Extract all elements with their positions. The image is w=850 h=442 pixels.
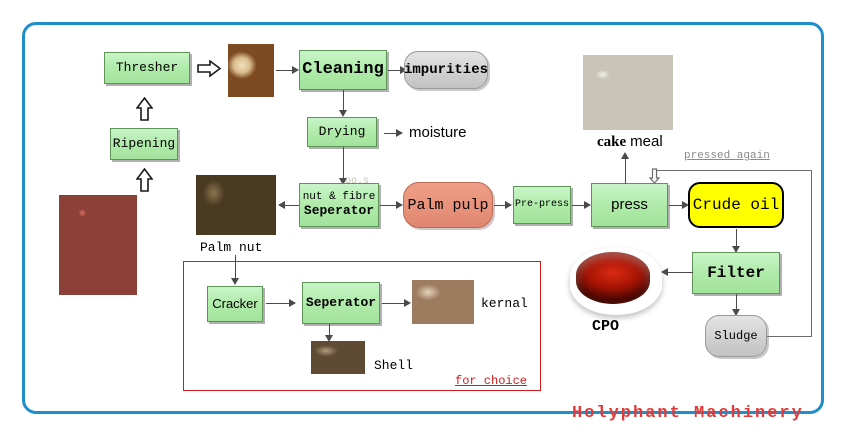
- connector-drying-to-separator: [343, 147, 344, 181]
- node-press[interactable]: press: [591, 183, 668, 227]
- node-pre-press[interactable]: Pre-press: [513, 186, 571, 224]
- node-cleaning-label: Cleaning: [302, 61, 384, 79]
- label-cpo: CPO: [592, 318, 619, 335]
- label-shell: Shell: [374, 358, 413, 373]
- photo-shell: [311, 341, 365, 374]
- node-crude-oil-label: Crude oil: [693, 196, 779, 214]
- connector-press-to-cake: [625, 158, 626, 184]
- node-palm-pulp[interactable]: Palm pulp: [403, 182, 493, 228]
- connector-recycle-right: [811, 170, 812, 336]
- arrowhead-drying-to-moisture: [396, 129, 403, 137]
- label-palm-nut: Palm nut: [200, 240, 262, 255]
- connector-sludge-to-recycle: [765, 336, 812, 337]
- connector-separator-to-palmnut: [284, 205, 300, 206]
- hollow-up-arrow-icon-ripening-to-thresher: [136, 97, 153, 121]
- label-moisture: moisture: [409, 124, 467, 141]
- node-kernel-separator[interactable]: Seperator: [302, 282, 380, 324]
- hollow-right-arrow-icon: [197, 60, 221, 77]
- arrowhead-palmnut-to-cracker: [231, 278, 239, 285]
- arrowhead-cleaning-to-drying: [339, 110, 347, 117]
- arrowhead-prepress-to-press: [584, 201, 591, 209]
- node-filter-label: Filter: [707, 265, 765, 282]
- arrowhead-cracker-to-kernelseparator: [289, 299, 296, 307]
- label-cake-bold: cake: [597, 134, 626, 150]
- node-drying-label: Drying: [319, 125, 366, 139]
- node-cracker[interactable]: Cracker: [207, 286, 263, 322]
- label-cake-meal: cakemeal: [597, 133, 663, 151]
- node-press-label: press: [611, 197, 648, 213]
- photo-cpo-oil: [576, 252, 650, 304]
- node-thresher[interactable]: Thresher: [104, 52, 190, 84]
- arrowhead-pulp-to-prepress: [505, 201, 512, 209]
- node-cracker-label: Cracker: [212, 297, 258, 311]
- node-nut-fibre-separator[interactable]: nut & fibre Seperator: [299, 183, 379, 227]
- connector-cleaning-to-drying: [343, 90, 344, 112]
- photo-palm-fruit-cut: [228, 44, 274, 97]
- photo-cake-meal: [583, 55, 673, 130]
- connector-filter-to-cpo: [667, 272, 693, 273]
- photo-fruit-bunch: [59, 195, 137, 295]
- photo-palm-nut: [196, 175, 276, 235]
- node-cleaning[interactable]: Cleaning: [299, 50, 387, 90]
- arrowhead-separator-to-palmnut: [278, 201, 285, 209]
- node-ripening-label: Ripening: [113, 137, 175, 151]
- connector-recycle-top: [654, 170, 812, 171]
- node-separator-line2: Seperator: [304, 204, 374, 218]
- arrowhead-press-to-cake: [621, 152, 629, 159]
- node-filter[interactable]: Filter: [692, 252, 780, 294]
- node-pre-press-label: Pre-press: [515, 200, 569, 211]
- node-sludge[interactable]: Sludge: [705, 315, 767, 357]
- label-pressed-again: pressed again: [684, 150, 770, 162]
- arrowhead-separator-to-pulp: [396, 201, 403, 209]
- node-palm-pulp-label: Palm pulp: [407, 197, 488, 214]
- node-impurities[interactable]: impurities: [404, 51, 488, 89]
- node-kernel-separator-label: Seperator: [306, 296, 376, 310]
- process-flow-diagram: Thresher Cleaning impurities Ripening: [0, 0, 850, 442]
- node-sludge-label: Sludge: [714, 329, 757, 343]
- node-crude-oil[interactable]: Crude oil: [688, 182, 784, 228]
- watermark-brand: Holyphant Machinery: [572, 404, 804, 423]
- label-cake-rest: meal: [630, 133, 663, 150]
- photo-kernal: [412, 280, 474, 324]
- arrowhead-filter-to-cpo: [661, 268, 668, 276]
- arrowhead-kernelseparator-to-kernal: [404, 299, 411, 307]
- hollow-down-arrow-icon-recycle: [649, 168, 660, 184]
- node-thresher-label: Thresher: [116, 61, 178, 75]
- node-drying[interactable]: Drying: [307, 117, 377, 147]
- label-for-choice: for choice: [455, 374, 527, 388]
- hollow-up-arrow-icon-bunch-to-ripening: [136, 168, 153, 192]
- label-kernal: kernal: [481, 296, 528, 311]
- node-ripening[interactable]: Ripening: [110, 128, 178, 160]
- arrowhead-fruit-to-cleaning: [292, 66, 299, 74]
- node-impurities-label: impurities: [404, 62, 488, 78]
